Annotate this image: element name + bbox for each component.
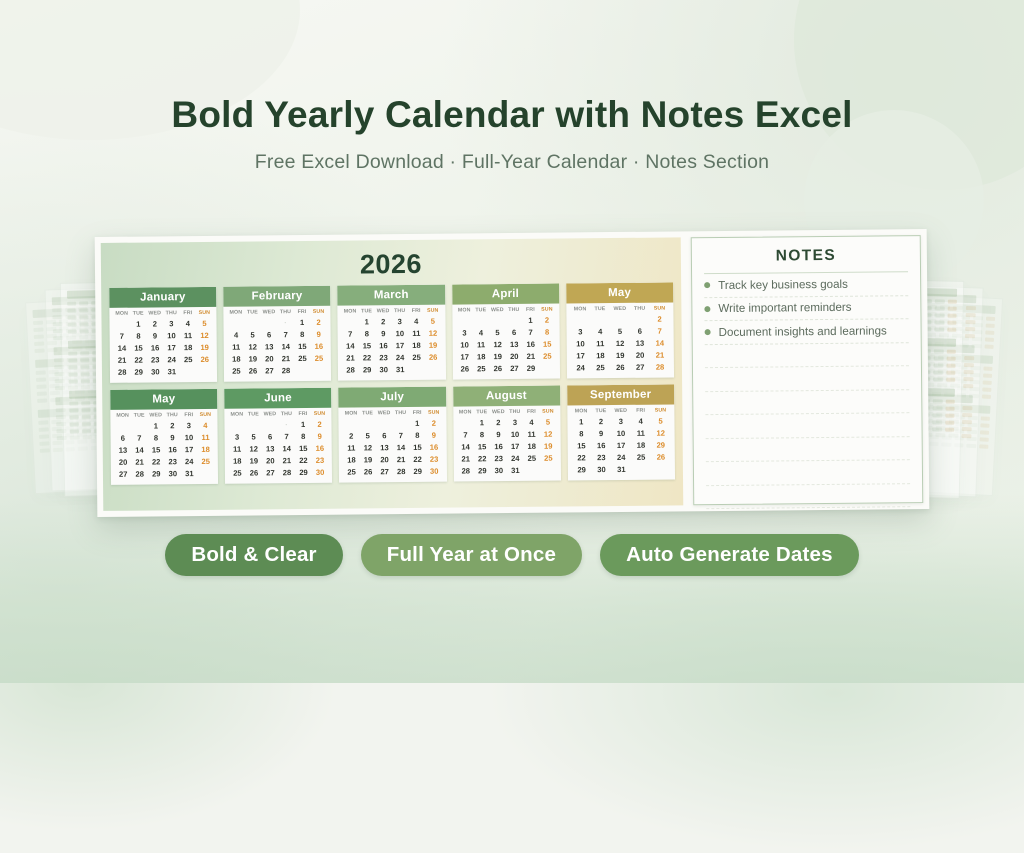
- day-cell[interactable]: 2: [490, 417, 507, 429]
- day-cell[interactable]: 7: [277, 329, 294, 341]
- day-cell[interactable]: 21: [279, 454, 296, 466]
- day-cell[interactable]: 25: [180, 353, 197, 365]
- day-cell[interactable]: 15: [130, 342, 147, 354]
- day-cell[interactable]: 11: [473, 339, 490, 351]
- day-cell[interactable]: 12: [360, 442, 377, 454]
- day-cell[interactable]: 15: [148, 444, 165, 456]
- day-cell[interactable]: 10: [456, 339, 473, 351]
- day-cell[interactable]: 17: [611, 439, 631, 451]
- day-cell[interactable]: 12: [196, 330, 213, 342]
- day-cell[interactable]: 6: [506, 327, 523, 339]
- day-cell[interactable]: 17: [392, 340, 409, 352]
- day-cell[interactable]: 16: [522, 338, 539, 350]
- month-card[interactable]: JuneMONTUEWEDTHUFRISUN·12356789111213141…: [224, 388, 332, 484]
- day-cell[interactable]: 19: [196, 341, 213, 353]
- day-cell[interactable]: 24: [611, 451, 631, 463]
- notes-blank-line[interactable]: [706, 484, 910, 509]
- day-cell[interactable]: 3: [507, 417, 524, 429]
- weekday-label: FRI: [523, 408, 540, 416]
- bullet-icon: [705, 329, 711, 335]
- day-cell[interactable]: 14: [457, 441, 474, 453]
- day-cell[interactable]: 20: [506, 350, 523, 362]
- day-cell-empty: [376, 418, 393, 430]
- day-cell[interactable]: 25: [523, 452, 540, 464]
- day-cell[interactable]: 27: [262, 466, 279, 478]
- day-cell[interactable]: 9: [311, 430, 328, 442]
- day-cell[interactable]: 30: [491, 464, 508, 476]
- day-cell[interactable]: 15: [295, 442, 312, 454]
- day-cell[interactable]: 11: [180, 330, 197, 342]
- day-cell[interactable]: 24: [392, 351, 409, 363]
- day-cell[interactable]: 5: [540, 416, 557, 428]
- day-cell[interactable]: 11: [631, 427, 651, 439]
- day-cell[interactable]: 28: [278, 364, 295, 376]
- feature-pill[interactable]: Auto Generate Dates: [600, 534, 859, 576]
- week-row: 34567: [570, 325, 669, 338]
- day-cell[interactable]: 11: [408, 328, 425, 340]
- feature-pill[interactable]: Bold & Clear: [165, 534, 342, 576]
- day-cell[interactable]: 25: [197, 455, 214, 467]
- day-cell[interactable]: 12: [425, 327, 442, 339]
- day-cell[interactable]: 18: [408, 339, 425, 351]
- day-cell[interactable]: 4: [590, 326, 610, 338]
- day-cell[interactable]: 12: [610, 337, 630, 349]
- day-cell[interactable]: 10: [507, 428, 524, 440]
- day-cell[interactable]: 1: [571, 416, 591, 428]
- day-cell[interactable]: 5: [489, 327, 506, 339]
- day-cell[interactable]: 11: [523, 428, 540, 440]
- day-cell[interactable]: 18: [590, 350, 610, 362]
- notes-blank-line[interactable]: [705, 390, 909, 415]
- day-cell[interactable]: 26: [245, 365, 262, 377]
- day-cell[interactable]: 21: [457, 453, 474, 465]
- day-cell[interactable]: 3: [570, 326, 590, 338]
- month-card[interactable]: FebruaryMONTUEWEDTHUFRISUN·1245678911121…: [223, 286, 331, 382]
- day-cell[interactable]: 20: [262, 455, 279, 467]
- day-cell[interactable]: 9: [164, 432, 181, 444]
- day-cell[interactable]: 8: [409, 429, 426, 441]
- day-cell[interactable]: 18: [631, 439, 651, 451]
- day-cell[interactable]: 6: [262, 431, 279, 443]
- week-row: 2425262728: [571, 361, 670, 374]
- day-cell[interactable]: 2: [539, 314, 556, 326]
- day-cell[interactable]: 26: [490, 362, 507, 374]
- day-cell[interactable]: 23: [490, 452, 507, 464]
- day-cell[interactable]: 26: [360, 466, 377, 478]
- day-cell[interactable]: 20: [630, 349, 650, 361]
- day-cell[interactable]: 6: [376, 430, 393, 442]
- day-cell[interactable]: 27: [115, 468, 132, 480]
- day-cell[interactable]: 28: [457, 465, 474, 477]
- day-cell[interactable]: 9: [310, 328, 327, 340]
- notes-blank-line[interactable]: [705, 413, 909, 438]
- day-cell[interactable]: 24: [163, 354, 180, 366]
- month-card[interactable]: AprilMONTUEWEDTHUFRISUN12345678101112131…: [452, 284, 560, 380]
- page-title: Bold Yearly Calendar with Notes Excel: [0, 96, 1024, 135]
- day-cell[interactable]: 21: [523, 350, 540, 362]
- day-cell[interactable]: 5: [651, 415, 671, 427]
- week-row: 252627282930: [343, 465, 442, 478]
- day-cell[interactable]: 21: [278, 353, 295, 365]
- day-cell[interactable]: 25: [228, 365, 245, 377]
- day-cell[interactable]: 20: [376, 453, 393, 465]
- day-cell[interactable]: 9: [426, 429, 443, 441]
- day-cell[interactable]: 27: [376, 465, 393, 477]
- day-cell[interactable]: 5: [196, 318, 213, 330]
- day-cell[interactable]: 18: [473, 351, 490, 363]
- day-cell[interactable]: 17: [181, 443, 198, 455]
- day-cell[interactable]: 18: [180, 342, 197, 354]
- day-cell[interactable]: 28: [342, 364, 359, 376]
- day-cell[interactable]: 20: [261, 353, 278, 365]
- day-cell[interactable]: 28: [114, 366, 131, 378]
- day-cell[interactable]: 4: [197, 420, 214, 432]
- day-cell[interactable]: 1: [130, 318, 147, 330]
- day-cell[interactable]: 18: [197, 443, 214, 455]
- day-cell[interactable]: 31: [507, 464, 524, 476]
- day-cell[interactable]: 16: [591, 440, 611, 452]
- day-cell[interactable]: 7: [131, 432, 148, 444]
- day-cell[interactable]: 27: [506, 362, 523, 374]
- day-cell[interactable]: 21: [342, 352, 359, 364]
- day-cell[interactable]: 13: [115, 444, 132, 456]
- day-cell[interactable]: 16: [312, 442, 329, 454]
- day-cell-empty: [229, 419, 246, 431]
- week-row: ·12: [228, 317, 327, 330]
- day-cell[interactable]: 29: [359, 364, 376, 376]
- day-cell[interactable]: 23: [591, 451, 611, 463]
- day-cell[interactable]: 21: [393, 453, 410, 465]
- day-cell[interactable]: 21: [650, 349, 670, 361]
- day-cell[interactable]: 14: [393, 441, 410, 453]
- month-card[interactable]: SeptemberMONTUEWEDFRISUN1234589101112151…: [567, 385, 675, 481]
- day-cell[interactable]: 25: [343, 466, 360, 478]
- day-cell[interactable]: 15: [539, 338, 556, 350]
- day-cell[interactable]: 25: [473, 363, 490, 375]
- day-cell[interactable]: 25: [539, 350, 556, 362]
- day-cell[interactable]: 4: [180, 318, 197, 330]
- day-cell[interactable]: 16: [164, 444, 181, 456]
- day-cell[interactable]: 28: [393, 465, 410, 477]
- day-cell[interactable]: 19: [360, 454, 377, 466]
- day-cell[interactable]: 22: [409, 453, 426, 465]
- day-cell[interactable]: 15: [474, 441, 491, 453]
- day-cell[interactable]: 9: [490, 429, 507, 441]
- day-cell[interactable]: 29: [295, 466, 312, 478]
- day-cell[interactable]: 29: [409, 465, 426, 477]
- day-cell[interactable]: 30: [312, 466, 329, 478]
- day-cell[interactable]: 13: [506, 338, 523, 350]
- day-cell[interactable]: 26: [425, 351, 442, 363]
- day-cell[interactable]: 22: [148, 456, 165, 468]
- day-cell[interactable]: 31: [392, 363, 409, 375]
- day-cell[interactable]: 25: [229, 467, 246, 479]
- day-cell[interactable]: 23: [426, 453, 443, 465]
- day-cell[interactable]: 11: [197, 431, 214, 443]
- notes-item[interactable]: Document insights and learnings: [705, 319, 909, 344]
- day-cell[interactable]: 2: [147, 318, 164, 330]
- day-cell[interactable]: 31: [164, 366, 181, 378]
- day-cell[interactable]: 4: [473, 327, 490, 339]
- day-cell[interactable]: 13: [262, 443, 279, 455]
- day-cell[interactable]: 9: [375, 328, 392, 340]
- day-cell[interactable]: 4: [228, 329, 245, 341]
- day-cell[interactable]: 6: [630, 325, 650, 337]
- day-cell[interactable]: 16: [147, 342, 164, 354]
- day-cell[interactable]: 19: [425, 339, 442, 351]
- day-cell[interactable]: 2: [311, 418, 328, 430]
- day-cell[interactable]: 22: [572, 452, 592, 464]
- day-cell[interactable]: 29: [651, 439, 671, 451]
- day-cell[interactable]: 25: [591, 361, 611, 373]
- day-cell[interactable]: 30: [147, 366, 164, 378]
- day-cell[interactable]: 7: [650, 325, 670, 337]
- day-cell[interactable]: 5: [610, 326, 630, 338]
- day-cell[interactable]: 7: [457, 429, 474, 441]
- day-cell[interactable]: 17: [456, 351, 473, 363]
- day-cell[interactable]: 30: [164, 467, 181, 479]
- day-cell[interactable]: 8: [148, 432, 165, 444]
- day-cell[interactable]: 8: [294, 329, 311, 341]
- day-cell[interactable]: 2: [164, 420, 181, 432]
- day-cell[interactable]: 29: [572, 463, 592, 475]
- day-cell[interactable]: 10: [570, 338, 590, 350]
- day-cell[interactable]: 2: [650, 313, 670, 325]
- day-cell[interactable]: 5: [424, 316, 441, 328]
- day-cell[interactable]: 8: [358, 328, 375, 340]
- month-card[interactable]: JanuaryMONTUEWEDTHUFRISUN123457891011121…: [109, 287, 217, 383]
- day-cell[interactable]: 5: [245, 431, 262, 443]
- month-card[interactable]: MayMONTUEWEDTHUFRISUN1234678910111314151…: [110, 389, 218, 485]
- day-cell[interactable]: 17: [571, 350, 591, 362]
- day-cell[interactable]: 7: [522, 326, 539, 338]
- day-cell[interactable]: 22: [130, 354, 147, 366]
- day-cell[interactable]: 25: [540, 452, 557, 464]
- day-cell[interactable]: 4: [631, 415, 651, 427]
- day-cell[interactable]: 8: [295, 431, 312, 443]
- day-cell[interactable]: 1: [409, 418, 426, 430]
- day-cell[interactable]: 24: [571, 362, 591, 374]
- day-cell[interactable]: 3: [163, 318, 180, 330]
- notes-item[interactable]: Track key business goals: [704, 272, 908, 297]
- day-cell[interactable]: 25: [294, 352, 311, 364]
- month-name: January: [109, 287, 216, 308]
- notes-blank-line[interactable]: [705, 366, 909, 391]
- day-cell[interactable]: 27: [630, 361, 650, 373]
- day-cell[interactable]: 1: [522, 315, 539, 327]
- day-cell[interactable]: 3: [229, 431, 246, 443]
- day-cell[interactable]: 11: [228, 341, 245, 353]
- day-cell[interactable]: 15: [409, 441, 426, 453]
- day-cell[interactable]: 17: [163, 342, 180, 354]
- day-cell[interactable]: 26: [651, 451, 671, 463]
- notes-blank-line[interactable]: [706, 437, 910, 462]
- month-card[interactable]: AugustMONTUEWEDTHUFRISUN1234578910111214…: [453, 386, 561, 482]
- day-cell[interactable]: 5: [359, 430, 376, 442]
- day-cell[interactable]: 26: [246, 467, 263, 479]
- day-cell[interactable]: 25: [408, 351, 425, 363]
- day-cell[interactable]: 2: [425, 417, 442, 429]
- day-cell[interactable]: 11: [343, 442, 360, 454]
- weekday-label: SUN: [311, 410, 328, 418]
- day-cell[interactable]: 23: [164, 456, 181, 468]
- day-cell[interactable]: 3: [456, 327, 473, 339]
- day-cell[interactable]: 8: [474, 429, 491, 441]
- day-cell[interactable]: 14: [277, 341, 294, 353]
- day-cell[interactable]: 26: [196, 353, 213, 365]
- day-cell[interactable]: 18: [229, 455, 246, 467]
- day-cell[interactable]: 28: [131, 468, 148, 480]
- day-cell[interactable]: 16: [426, 441, 443, 453]
- day-cell[interactable]: 19: [245, 353, 262, 365]
- day-cell[interactable]: 30: [592, 463, 612, 475]
- day-cell[interactable]: 22: [359, 352, 376, 364]
- notes-item[interactable]: Write important reminders: [704, 296, 908, 321]
- day-cell[interactable]: 1: [294, 317, 311, 329]
- day-cell[interactable]: 18: [343, 454, 360, 466]
- day-cell[interactable]: 7: [114, 330, 131, 342]
- day-cell[interactable]: 8: [130, 330, 147, 342]
- day-cell[interactable]: 3: [181, 420, 198, 432]
- notes-blank-line[interactable]: [706, 460, 910, 485]
- day-cell[interactable]: 14: [278, 443, 295, 455]
- day-cell[interactable]: 9: [591, 428, 611, 440]
- day-cell[interactable]: 15: [571, 440, 591, 452]
- weekday-label: MON: [229, 411, 246, 419]
- day-cell[interactable]: 13: [630, 337, 650, 349]
- day-cell[interactable]: 12: [489, 339, 506, 351]
- day-cell[interactable]: 10: [392, 328, 409, 340]
- day-cell[interactable]: ·: [278, 419, 295, 431]
- day-cell[interactable]: 25: [311, 352, 328, 364]
- day-cell[interactable]: 12: [540, 428, 557, 440]
- day-cell[interactable]: 31: [611, 463, 631, 475]
- day-cell[interactable]: 12: [244, 341, 261, 353]
- day-cell[interactable]: 4: [523, 416, 540, 428]
- day-cell[interactable]: 23: [312, 454, 329, 466]
- week-row: 789101112: [342, 327, 441, 340]
- day-cell[interactable]: 13: [261, 341, 278, 353]
- week-row: 28293031: [457, 464, 556, 477]
- day-cell[interactable]: 31: [181, 467, 198, 479]
- week-row: 212223242525: [457, 452, 556, 465]
- day-cell[interactable]: 8: [571, 428, 591, 440]
- day-cell[interactable]: 12: [651, 427, 671, 439]
- day-cell[interactable]: 7: [278, 431, 295, 443]
- day-cell[interactable]: 8: [539, 326, 556, 338]
- day-cell[interactable]: 1: [474, 417, 491, 429]
- day-cell[interactable]: 22: [295, 454, 312, 466]
- month-card[interactable]: JulyMONTUEWEDTHUFRISUN122567891112131415…: [339, 387, 447, 483]
- day-cell[interactable]: 17: [507, 440, 524, 452]
- day-cell[interactable]: 2: [343, 430, 360, 442]
- day-cell[interactable]: 1: [295, 419, 312, 431]
- day-cell[interactable]: 2: [375, 316, 392, 328]
- day-cell[interactable]: 15: [359, 340, 376, 352]
- day-cell[interactable]: 15: [294, 341, 311, 353]
- day-cell[interactable]: 19: [489, 351, 506, 363]
- weekday-label: TUE: [473, 409, 490, 417]
- day-cell[interactable]: 10: [181, 432, 198, 444]
- day-cell[interactable]: 26: [610, 361, 630, 373]
- day-cell[interactable]: 21: [114, 354, 131, 366]
- day-cell[interactable]: 19: [540, 440, 557, 452]
- day-cell[interactable]: 28: [279, 466, 296, 478]
- day-cell[interactable]: 16: [311, 340, 328, 352]
- weekday-label: TUE: [359, 410, 376, 418]
- feature-pill[interactable]: Full Year at Once: [361, 534, 582, 576]
- day-cell[interactable]: 29: [130, 366, 147, 378]
- day-cell[interactable]: 5: [244, 329, 261, 341]
- day-cell[interactable]: 11: [229, 443, 246, 455]
- day-cell[interactable]: 2: [591, 416, 611, 428]
- week-row: 2223242526: [572, 451, 671, 464]
- day-cell[interactable]: 13: [376, 442, 393, 454]
- day-cell[interactable]: 29: [148, 468, 165, 480]
- day-cell[interactable]: 4: [408, 316, 425, 328]
- month-card[interactable]: MayMONTUEWEDTHUSUN2345671011121314171819…: [566, 283, 674, 379]
- day-cell[interactable]: 6: [261, 329, 278, 341]
- weekday-label: TUE: [131, 412, 148, 420]
- day-cell[interactable]: 27: [261, 365, 278, 377]
- day-cell[interactable]: 30: [426, 465, 443, 477]
- day-cell[interactable]: 29: [523, 362, 540, 374]
- day-cell[interactable]: 14: [342, 340, 359, 352]
- day-cell[interactable]: 12: [245, 443, 262, 455]
- day-cell[interactable]: 25: [631, 451, 651, 463]
- day-cell[interactable]: 24: [507, 452, 524, 464]
- calendar-year: 2026: [109, 247, 673, 281]
- day-cell[interactable]: 30: [375, 363, 392, 375]
- day-cell[interactable]: 23: [147, 354, 164, 366]
- day-cell[interactable]: 2: [310, 317, 327, 329]
- day-cell[interactable]: 21: [131, 456, 148, 468]
- day-cell[interactable]: 23: [375, 352, 392, 364]
- day-cell[interactable]: 29: [474, 464, 491, 476]
- day-cell[interactable]: 3: [611, 416, 631, 428]
- day-cell[interactable]: 14: [650, 337, 670, 349]
- day-cell[interactable]: 22: [474, 453, 491, 465]
- day-cell[interactable]: 26: [456, 363, 473, 375]
- day-cell[interactable]: 9: [147, 330, 164, 342]
- day-cell[interactable]: 14: [131, 444, 148, 456]
- day-cell[interactable]: 28: [650, 361, 670, 373]
- day-cell[interactable]: 7: [393, 430, 410, 442]
- day-cell[interactable]: 24: [181, 455, 198, 467]
- day-cell[interactable]: 14: [114, 342, 131, 354]
- day-cell[interactable]: 10: [163, 330, 180, 342]
- weekday-label: MON: [228, 309, 245, 317]
- day-cell[interactable]: 16: [375, 340, 392, 352]
- day-cell[interactable]: 11: [590, 338, 610, 350]
- day-cell[interactable]: 3: [391, 316, 408, 328]
- week-row: 181920212223: [343, 453, 442, 466]
- day-cell[interactable]: 18: [228, 353, 245, 365]
- day-cell[interactable]: 6: [115, 432, 132, 444]
- day-cell[interactable]: ·: [277, 317, 294, 329]
- notes-blank-line[interactable]: [705, 343, 909, 368]
- day-cell[interactable]: 10: [611, 427, 631, 439]
- day-cell[interactable]: 18: [523, 440, 540, 452]
- month-card[interactable]: MarchMONTUEWEDTHUFRISUN12345789101112141…: [338, 285, 446, 381]
- day-cell[interactable]: 1: [147, 420, 164, 432]
- day-cell[interactable]: 20: [115, 456, 132, 468]
- day-cell[interactable]: 19: [610, 349, 630, 361]
- day-cell[interactable]: 1: [358, 316, 375, 328]
- day-cell[interactable]: 19: [245, 455, 262, 467]
- day-cell[interactable]: 16: [490, 441, 507, 453]
- day-cell[interactable]: 7: [342, 328, 359, 340]
